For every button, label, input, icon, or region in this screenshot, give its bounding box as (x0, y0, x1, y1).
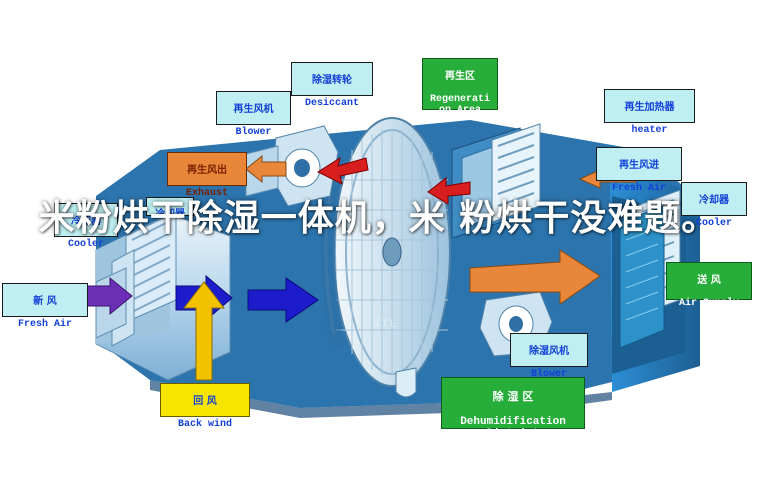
label-regen-heater: 再生加热器 heater (604, 89, 695, 123)
label-regeneration-area-en: Regenerati on Area (426, 94, 494, 116)
label-regen-blower-en: Blower (220, 127, 287, 138)
label-cooler-left-cn: 冷却器 (58, 216, 114, 227)
label-regen-heater-en: heater (608, 125, 691, 136)
label-back-wind-cn: 回 风 (164, 396, 246, 407)
label-regen-fresh-air: 再生风进 Fresh Air (596, 147, 682, 181)
label-air-supply-en: Air Supply (670, 298, 748, 309)
label-dehum-blower-cn: 除湿风机 (514, 346, 584, 357)
label-regen-blower-cn: 再生风机 (220, 104, 287, 115)
label-regen-exhaust: 再生风出 Exhaust (167, 152, 247, 186)
label-fresh-air-inlet-cn: 新 风 (6, 296, 84, 307)
watermark-text: XTL (372, 318, 398, 330)
label-cooler-right: 冷却器 Cooler (681, 182, 747, 216)
label-regeneration-area: 再生区 Regenerati on Area (422, 58, 498, 110)
label-regen-exhaust-cn: 再生风出 (171, 165, 243, 176)
label-desiccant-wheel: 除湿转轮 Desiccant (291, 62, 373, 96)
label-cooler-left: 冷却器 Cooler (54, 203, 118, 237)
label-cooler-left-en: Cooler (58, 239, 114, 250)
regen-heater-coil (492, 124, 540, 222)
label-fresh-air-inlet: 新 风 Fresh Air (2, 283, 88, 317)
label-dehumidification-district-cn: 除 湿 区 (445, 391, 581, 403)
label-regen-blower: 再生风机 Blower (216, 91, 291, 125)
label-back-wind-en: Back wind (164, 419, 246, 430)
label-dehum-blower: 除湿风机 Blower (510, 333, 588, 367)
label-desiccant-wheel-en: Desiccant (295, 98, 369, 109)
label-regen-fresh-air-en: Fresh Air (600, 183, 678, 194)
label-cooler-mid: 冷却器 (146, 197, 194, 216)
label-cooler-right-en: Cooler (685, 218, 743, 229)
air-supply-chamber (620, 206, 664, 348)
label-dehumidification-district: 除 湿 区 Dehumidification District (441, 377, 585, 429)
label-air-supply: 送 风 Air Supply (666, 262, 752, 300)
label-regen-heater-cn: 再生加热器 (608, 102, 691, 113)
label-air-supply-cn: 送 风 (670, 275, 748, 286)
label-cooler-mid-cn: 冷却器 (147, 209, 193, 220)
label-back-wind: 回 风 Back wind (160, 383, 250, 417)
back-wind-inlet (396, 368, 416, 397)
label-cooler-right-cn: 冷却器 (685, 195, 743, 206)
diagram-canvas: 除湿转轮 Desiccant 再生区 Regenerati on Area 再生… (0, 0, 757, 488)
label-dehumidification-district-en: Dehumidification District (445, 416, 581, 441)
label-desiccant-wheel-cn: 除湿转轮 (295, 75, 369, 86)
label-regeneration-area-cn: 再生区 (426, 71, 494, 82)
label-fresh-air-inlet-en: Fresh Air (6, 319, 84, 330)
label-regen-fresh-air-cn: 再生风进 (600, 160, 678, 171)
